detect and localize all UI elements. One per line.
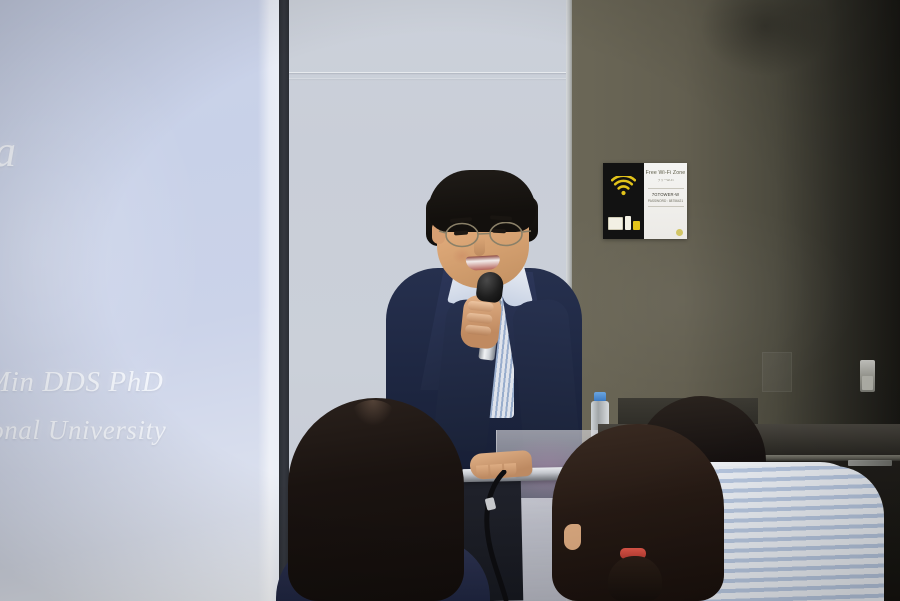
wall-panel-seam-secondary	[282, 78, 570, 79]
desk-object[interactable]	[848, 460, 892, 466]
audience-member-center-ponytail	[608, 556, 662, 601]
tablet-icon	[633, 221, 640, 230]
eyeglasses-icon	[438, 222, 534, 248]
wall-panel-seam	[282, 72, 570, 73]
projection-screen-edge	[258, 0, 279, 601]
wifi-title: Free Wi-Fi Zone	[646, 170, 686, 176]
speaker-hand-holding-mic	[459, 294, 502, 350]
wifi-icon	[611, 176, 636, 196]
wifi-sign-black-panel	[603, 163, 644, 239]
audience-member-left-hair-part	[352, 400, 394, 426]
wifi-subtitle: フリーWi-Fi	[658, 178, 674, 182]
projection-glow	[0, 0, 279, 601]
wifi-password: PASSWORD : 88756421	[648, 199, 683, 203]
slide-presenter-name: Min DDS PhD	[0, 366, 163, 399]
wifi-credentials: 7GTOWER-W PASSWORD : 88756421	[648, 188, 684, 207]
free-wifi-sign: Free Wi-Fi Zone フリーWi-Fi 7GTOWER-W PASSW…	[603, 163, 687, 239]
wall-outlet-plate	[762, 352, 792, 392]
slide-text-fragment: a	[0, 126, 17, 177]
wifi-ssid: 7GTOWER-W	[652, 192, 679, 197]
laptop-icon	[608, 217, 623, 230]
wifi-seal-icon	[676, 229, 683, 236]
wifi-sign-info-panel: Free Wi-Fi Zone フリーWi-Fi 7GTOWER-W PASSW…	[644, 163, 687, 239]
wifi-device-icons	[608, 211, 640, 230]
knuckle	[467, 301, 494, 313]
audience-member-left-hair	[288, 398, 464, 601]
slide-affiliation: ional University	[0, 415, 166, 446]
wall-shadow	[690, 0, 840, 130]
wall-mounted-switch[interactable]	[860, 360, 875, 392]
lecture-room-photo: a Min DDS PhD ional University Free Wi-F…	[0, 0, 900, 601]
audience-member-center-ear	[564, 524, 581, 550]
bottle-cap	[594, 392, 606, 401]
knuckle	[466, 312, 493, 324]
knuckle	[465, 324, 492, 336]
phone-icon	[625, 216, 630, 230]
